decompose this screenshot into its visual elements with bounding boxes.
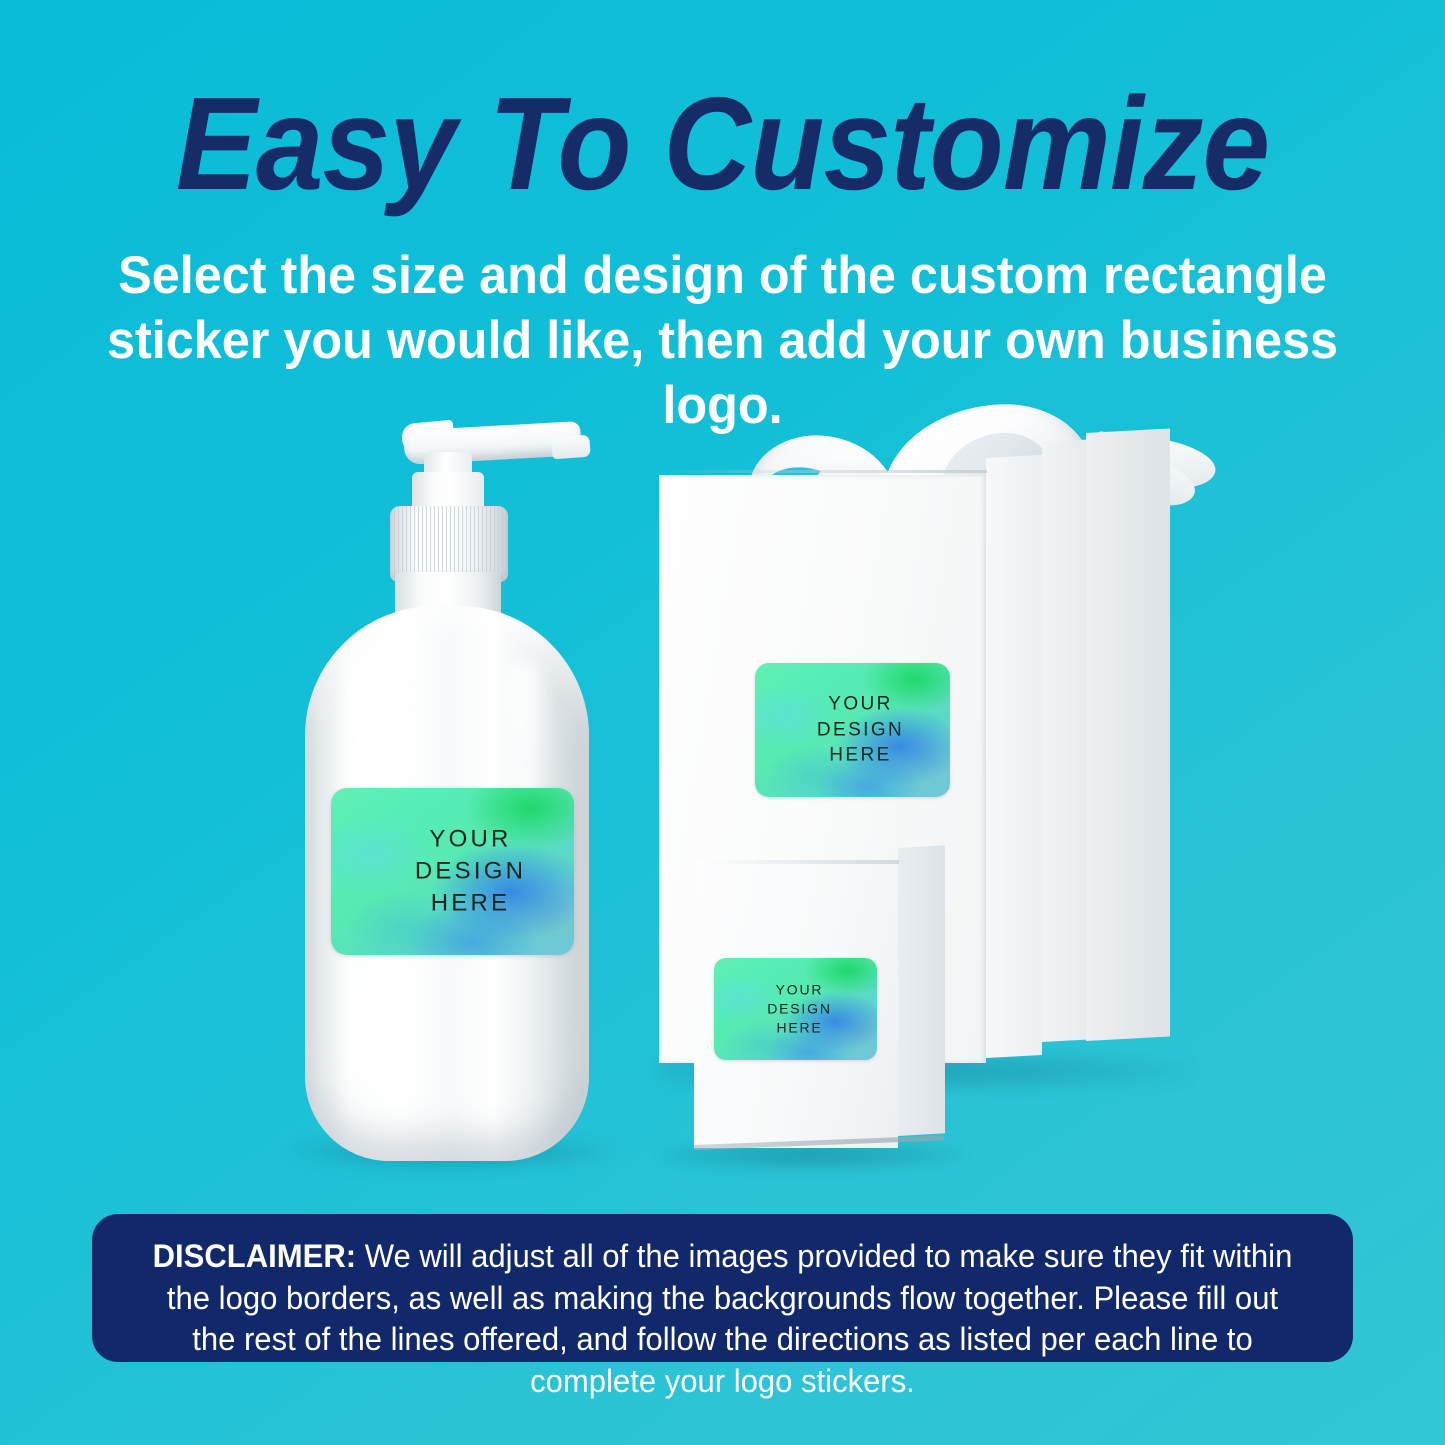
sticker-line-1: YOUR: [718, 981, 877, 1000]
gift-box-side-panel-outer: [1086, 428, 1170, 1041]
sticker-text-gift: YOUR DESIGN HERE: [755, 692, 950, 769]
promo-graphic: Easy To Customize Select the size and de…: [0, 0, 1445, 1445]
pump-ribbed-collar: [390, 506, 508, 582]
disclaimer-text: DISCLAIMER: We will adjust all of the im…: [148, 1236, 1297, 1402]
sticker-text-bottle: YOUR DESIGN HERE: [331, 823, 574, 920]
gift-box-side-panel-inner: [986, 455, 1042, 1058]
sticker-line-2: DESIGN: [763, 717, 950, 743]
sticker-text-small-box: YOUR DESIGN HERE: [714, 981, 877, 1038]
sticker-on-bottle[interactable]: YOUR DESIGN HERE: [331, 788, 574, 955]
sticker-line-3: HERE: [349, 888, 574, 920]
small-box-top-edge: [694, 860, 899, 864]
disclaimer-label: DISCLAIMER:: [153, 1238, 356, 1274]
sticker-line-3: HERE: [718, 1018, 877, 1037]
product-mockup-scene: YOUR DESIGN HERE YOUR DESIGN HERE: [0, 400, 1445, 1200]
sticker-line-2: DESIGN: [349, 855, 574, 887]
sticker-line-2: DESIGN: [718, 1000, 877, 1019]
small-box-side-face: [898, 845, 945, 1136]
gift-box-side-panel-mid: [1042, 440, 1086, 1042]
sticker-line-1: YOUR: [763, 692, 950, 718]
sticker-line-3: HERE: [763, 743, 950, 769]
sticker-on-small-box[interactable]: YOUR DESIGN HERE: [714, 958, 877, 1060]
pump-nozzle-tip-icon: [551, 435, 590, 460]
disclaimer-banner: DISCLAIMER: We will adjust all of the im…: [92, 1214, 1353, 1362]
sticker-on-gift-box[interactable]: YOUR DESIGN HERE: [755, 663, 950, 797]
sticker-line-1: YOUR: [349, 823, 574, 855]
page-title: Easy To Customize: [58, 78, 1387, 210]
gift-box-lid-seam: [659, 470, 987, 473]
